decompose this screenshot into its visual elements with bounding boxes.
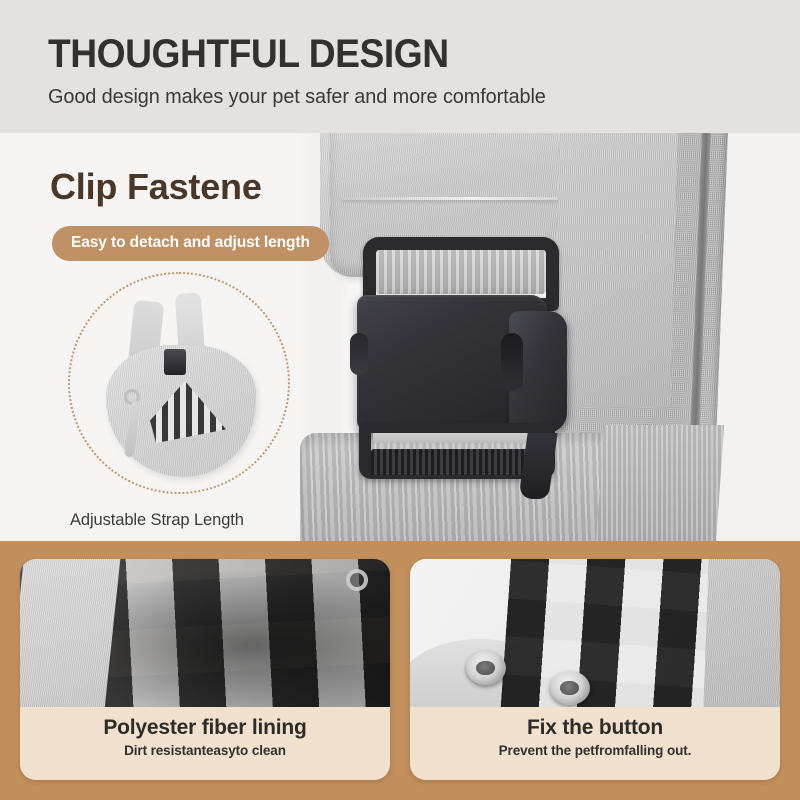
lining-photo xyxy=(20,559,390,707)
caption-subtitle: Dirt resistanteasyto clean xyxy=(20,743,390,758)
inset-caption: Adjustable Strap Length xyxy=(70,511,244,530)
caption-subtitle: Prevent the petfromfalling out. xyxy=(410,743,780,758)
caption-title: Fix the button xyxy=(410,716,780,740)
header-band: THOUGHTFUL DESIGN Good design makes your… xyxy=(0,0,800,133)
sling-inset-photo xyxy=(100,293,260,481)
snap-button-icon xyxy=(550,671,590,705)
feature-panel-button: Fix the button Prevent the petfromfallin… xyxy=(410,559,780,780)
padded-panel-right xyxy=(552,133,677,407)
page-title: THOUGHTFUL DESIGN xyxy=(48,34,747,74)
feature-panels: Polyester fiber lining Dirt resistanteas… xyxy=(0,541,800,800)
buckle-left-notch xyxy=(350,333,368,375)
grey-fabric-edge xyxy=(20,559,120,707)
hero-badge: Easy to detach and adjust length xyxy=(52,226,329,261)
page-subtitle: Good design makes your pet safer and mor… xyxy=(48,85,777,109)
side-release-buckle xyxy=(357,237,569,499)
buckle-wing-notch xyxy=(501,333,523,391)
button-photo xyxy=(410,559,780,707)
buckle-loop-webbing xyxy=(376,250,546,294)
gathered-fabric-right xyxy=(596,425,724,541)
feature-panel-lining: Polyester fiber lining Dirt resistanteas… xyxy=(20,559,390,780)
grey-fabric-edge xyxy=(703,559,780,707)
snap-button-icon xyxy=(466,651,506,685)
hero-section: Clip Fastene Easy to detach and adjust l… xyxy=(0,133,800,541)
snap-button-icon xyxy=(346,569,368,591)
caption-title: Polyester fiber lining xyxy=(20,716,390,740)
lining-caption: Polyester fiber lining Dirt resistanteas… xyxy=(20,707,390,780)
product-infographic: THOUGHTFUL DESIGN Good design makes your… xyxy=(0,0,800,800)
buckle-webbing-ribs xyxy=(371,449,543,475)
hero-title: Clip Fastene xyxy=(50,166,262,208)
sling-buckle-clip xyxy=(164,349,186,375)
button-caption: Fix the button Prevent the petfromfallin… xyxy=(410,707,780,780)
